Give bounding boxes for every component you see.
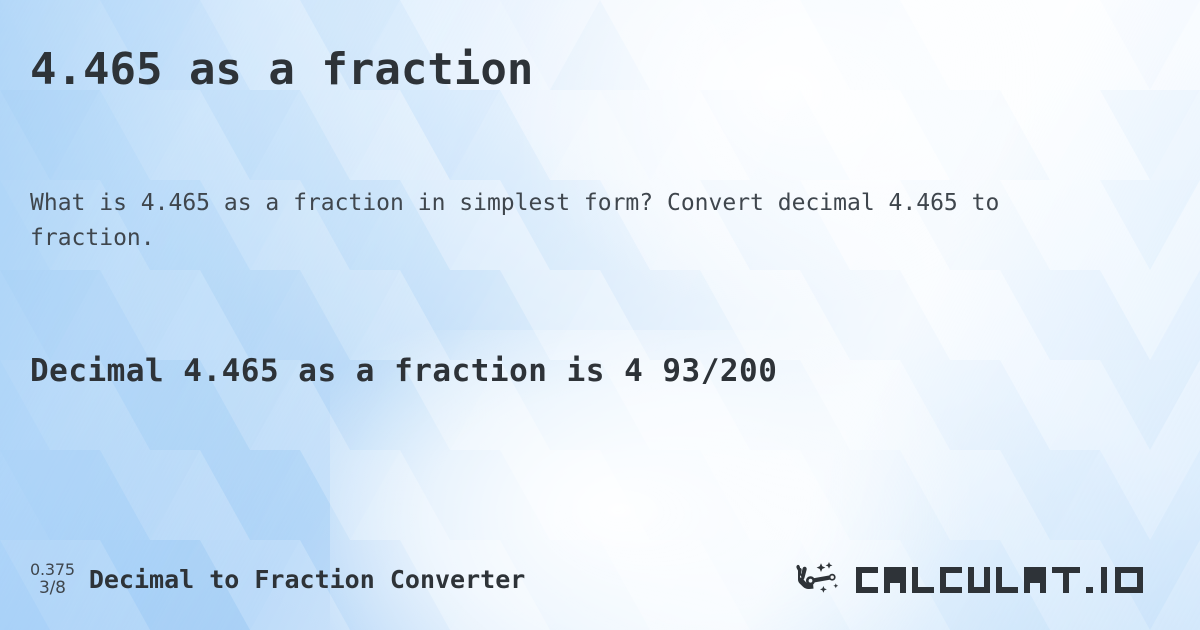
decimal-fraction-logo-icon: 0.375 3/8 <box>30 561 75 599</box>
conversion-result: Decimal 4.465 as a fraction is 4 93/200 <box>30 352 777 391</box>
logo-fraction-value: 3/8 <box>39 579 66 598</box>
site-logo[interactable]: CALCULAT.IO <box>790 560 1170 600</box>
page-description: What is 4.465 as a fraction in simplest … <box>30 186 1060 256</box>
logo-decimal-value: 0.375 <box>30 561 75 579</box>
hand-magic-wand-icon <box>790 560 846 600</box>
footer: 0.375 3/8 Decimal to Fraction Converter <box>0 556 1200 604</box>
calculatio-wordmark: CALCULAT.IO <box>852 563 1170 597</box>
og-image-card: 4.465 as a fraction What is 4.465 as a f… <box>0 0 1200 630</box>
tool-name-label: Decimal to Fraction Converter <box>89 565 526 594</box>
page-title: 4.465 as a fraction <box>30 44 533 96</box>
footer-brand: 0.375 3/8 Decimal to Fraction Converter <box>30 561 525 599</box>
content-area: 4.465 as a fraction What is 4.465 as a f… <box>0 0 1200 630</box>
